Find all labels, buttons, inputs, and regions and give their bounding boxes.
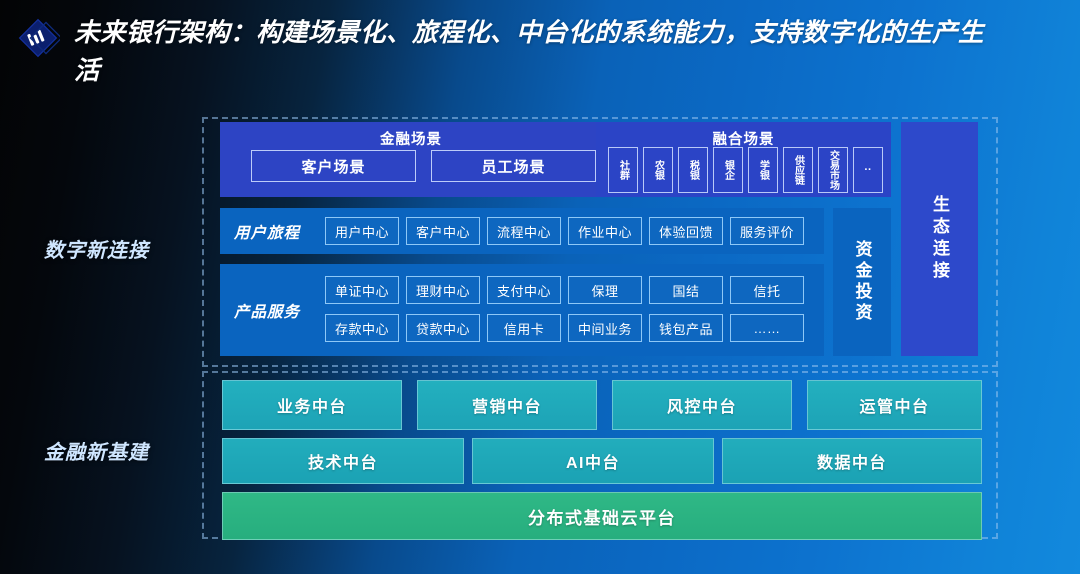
- fusion-item-more-ellipsis[interactable]: ··: [853, 147, 883, 193]
- digital-connection-area: 金融场景 客户场景 员工场景 融合场景 社群 农银 税银 银企 学银 供应链 交…: [207, 122, 993, 362]
- platform-technology[interactable]: 技术中台: [222, 438, 464, 484]
- platform-risk-control[interactable]: 风控中台: [612, 380, 792, 430]
- product-service-label: 产品服务: [234, 300, 300, 322]
- rail-label-digital-connection: 数字新连接: [44, 234, 149, 263]
- journey-service-evaluation[interactable]: 服务评价: [730, 217, 804, 245]
- product-service-panel: 产品服务 单证中心 理财中心 支付中心 保理 国结 信托 存款中心 贷款中心 信…: [220, 264, 824, 356]
- scene-staff[interactable]: 员工场景: [431, 150, 596, 182]
- platform-marketing[interactable]: 营销中台: [417, 380, 597, 430]
- scene-customer[interactable]: 客户场景: [251, 150, 416, 182]
- journey-operation-center[interactable]: 作业中心: [568, 217, 642, 245]
- product-document-center[interactable]: 单证中心: [325, 276, 399, 304]
- product-intermediary-business[interactable]: 中间业务: [568, 314, 642, 342]
- fusion-item-agri-bank[interactable]: 农银: [643, 147, 673, 193]
- journey-customer-center[interactable]: 客户中心: [406, 217, 480, 245]
- journey-process-center[interactable]: 流程中心: [487, 217, 561, 245]
- product-deposit-center[interactable]: 存款中心: [325, 314, 399, 342]
- platform-data[interactable]: 数据中台: [722, 438, 982, 484]
- product-wealth-center[interactable]: 理财中心: [406, 276, 480, 304]
- fusion-item-trading-market[interactable]: 交易市场: [818, 147, 848, 193]
- user-journey-label: 用户旅程: [234, 221, 300, 243]
- fusion-item-label: 供应链: [793, 155, 804, 185]
- fusion-scene-panel: 融合场景 社群 农银 税银 银企 学银 供应链 交易市场 ··: [596, 122, 891, 197]
- product-trust[interactable]: 信托: [730, 276, 804, 304]
- financial-scene-panel: 金融场景 客户场景 员工场景: [220, 122, 602, 197]
- rail-label-financial-infrastructure: 金融新基建: [44, 436, 149, 465]
- product-factoring[interactable]: 保理: [568, 276, 642, 304]
- ellipsis-icon: ··: [864, 166, 871, 174]
- platform-business[interactable]: 业务中台: [222, 380, 402, 430]
- fusion-scene-title: 融合场景: [596, 128, 891, 149]
- user-journey-panel: 用户旅程 用户中心 客户中心 流程中心 作业中心 体验回馈 服务评价: [220, 208, 824, 254]
- journey-experience-feedback[interactable]: 体验回馈: [649, 217, 723, 245]
- platform-operations[interactable]: 运管中台: [807, 380, 982, 430]
- fusion-item-tax-bank[interactable]: 税银: [678, 147, 708, 193]
- product-payment-center[interactable]: 支付中心: [487, 276, 561, 304]
- page-title: 未来银行架构：构建场景化、旅程化、中台化的系统能力，支持数字化的生产生活: [74, 14, 1004, 90]
- diamond-logo-icon: [16, 18, 60, 58]
- financial-scene-title: 金融场景: [220, 128, 602, 149]
- fusion-item-label: 交易市场: [828, 150, 839, 190]
- product-credit-card[interactable]: 信用卡: [487, 314, 561, 342]
- fusion-item-label: 社群: [618, 160, 629, 180]
- fusion-item-label: 税银: [688, 160, 699, 180]
- fusion-item-community[interactable]: 社群: [608, 147, 638, 193]
- fusion-item-edu-bank[interactable]: 学银: [748, 147, 778, 193]
- fusion-item-supply-chain[interactable]: 供应链: [783, 147, 813, 193]
- product-more-ellipsis[interactable]: ……: [730, 314, 804, 342]
- product-international-settlement[interactable]: 国结: [649, 276, 723, 304]
- platform-distributed-cloud[interactable]: 分布式基础云平台: [222, 492, 982, 540]
- slide-canvas: 未来银行架构：构建场景化、旅程化、中台化的系统能力，支持数字化的生产生活 数字新…: [0, 0, 1080, 574]
- financial-infrastructure-area: 业务中台 营销中台 风控中台 运管中台 技术中台 AI中台 数据中台 分布式基础…: [222, 380, 982, 532]
- capital-investment-column[interactable]: 资金投资: [833, 208, 891, 356]
- fusion-item-label: 学银: [758, 160, 769, 180]
- journey-user-center[interactable]: 用户中心: [325, 217, 399, 245]
- fusion-item-label: 农银: [653, 160, 664, 180]
- capital-investment-label: 资金投资: [850, 240, 875, 324]
- platform-ai[interactable]: AI中台: [472, 438, 714, 484]
- slide-header: 未来银行架构：构建场景化、旅程化、中台化的系统能力，支持数字化的生产生活: [0, 0, 1080, 100]
- ecology-connection-column[interactable]: 生态连接: [901, 122, 978, 356]
- fusion-item-label: 银企: [723, 160, 734, 180]
- product-wallet[interactable]: 钱包产品: [649, 314, 723, 342]
- fusion-item-bank-enterprise[interactable]: 银企: [713, 147, 743, 193]
- product-loan-center[interactable]: 贷款中心: [406, 314, 480, 342]
- ecology-connection-label: 生态连接: [927, 195, 952, 283]
